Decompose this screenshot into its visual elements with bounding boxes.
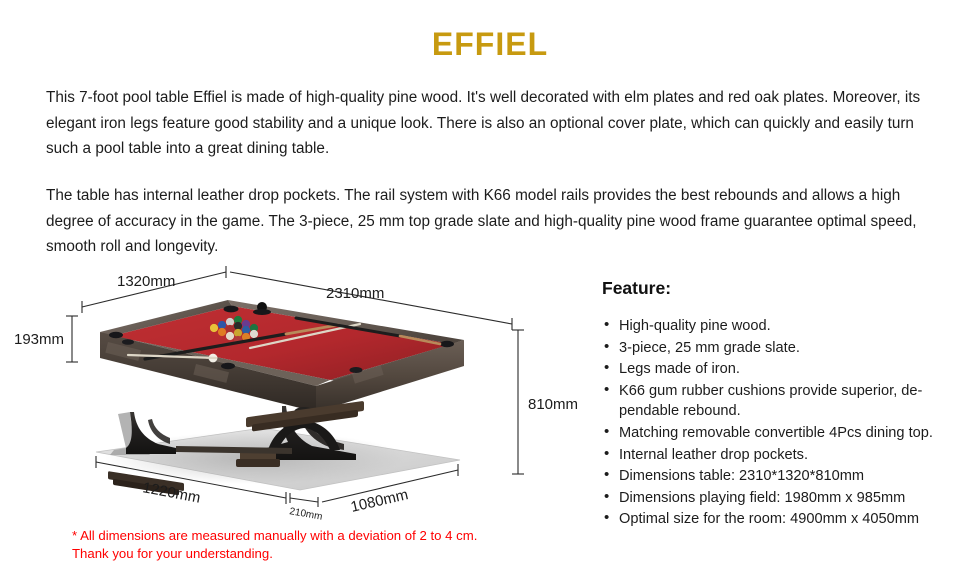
list-item: Dimensions playing field: 1980mm x 985mm bbox=[602, 488, 974, 509]
list-item: Dimensions table: 2310*1320*810mm bbox=[602, 466, 974, 487]
dimension-label-length-top: 2310mm bbox=[326, 285, 384, 302]
list-item: 3-piece, 25 mm grade slate. bbox=[602, 338, 974, 359]
disclaimer-line-2: Thank you for your understanding. bbox=[72, 546, 273, 561]
dimension-label-table-height: 810mm bbox=[528, 396, 578, 413]
page-title: EFFIEL bbox=[0, 26, 980, 63]
disclaimer-line-1: * All dimensions are measured manually w… bbox=[72, 528, 477, 543]
dimension-rail-height: 193mm bbox=[14, 316, 78, 362]
dimension-foot-width: 210mm bbox=[288, 493, 323, 523]
dimension-label-width-top: 1320mm bbox=[117, 273, 175, 290]
list-item: K66 gum rubber cushions provide superior… bbox=[602, 381, 974, 422]
dimension-table-height: 810mm bbox=[512, 330, 578, 474]
disclaimer-note: * All dimensions are measured manually w… bbox=[72, 527, 592, 563]
pocket-corner-back-left bbox=[109, 332, 123, 338]
description-paragraph-1: This 7-foot pool table Effiel is made of… bbox=[46, 85, 936, 162]
dimension-label-base-width: 1080mm bbox=[349, 486, 410, 516]
pocket-corner-back-right bbox=[440, 341, 454, 347]
list-item: Legs made of iron. bbox=[602, 359, 974, 380]
feature-panel: Feature: High-quality pine wood. 3-piece… bbox=[602, 278, 974, 531]
feature-list: High-quality pine wood. 3-piece, 25 mm g… bbox=[602, 316, 974, 530]
pool-table-dimension-diagram: 1320mm 2310mm 193mm 810mm 1220mm 210mm bbox=[0, 262, 600, 524]
pocket-side-front bbox=[221, 363, 235, 369]
list-item: Matching removable convertible 4Pcs dini… bbox=[602, 423, 974, 444]
pocket-corner-front-right bbox=[350, 367, 363, 373]
pocket-corner-front-left bbox=[122, 339, 134, 345]
dimension-label-foot-width: 210mm bbox=[288, 506, 323, 523]
list-item: Optimal size for the room: 4900mm x 4050… bbox=[602, 509, 974, 530]
dimension-label-rail-height: 193mm bbox=[14, 331, 64, 348]
list-item: High-quality pine wood. bbox=[602, 316, 974, 337]
feature-heading: Feature: bbox=[602, 278, 974, 299]
dimension-label-base-length: 1220mm bbox=[141, 479, 202, 507]
list-item: Internal leather drop pockets. bbox=[602, 445, 974, 466]
description-paragraph-2: The table has internal leather drop pock… bbox=[46, 183, 946, 260]
pocket-side-back bbox=[224, 306, 239, 313]
